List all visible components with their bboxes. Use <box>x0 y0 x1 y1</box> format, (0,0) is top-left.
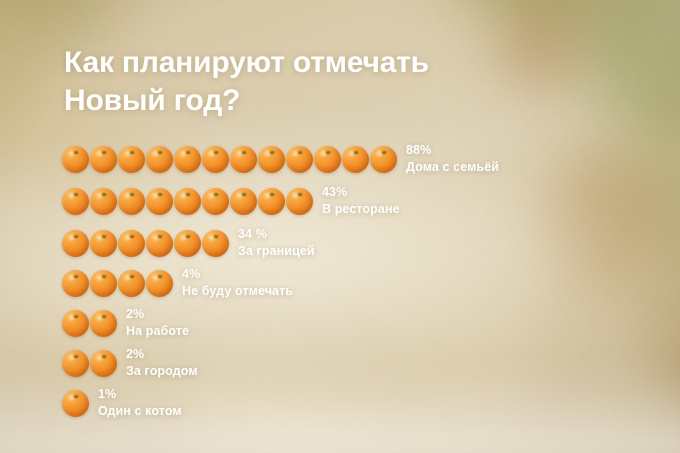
row-category: На работе <box>126 323 189 340</box>
icon-group <box>62 270 174 300</box>
row-category: В ресторане <box>322 201 400 218</box>
row-percent: 88% <box>406 142 499 159</box>
icon-group <box>62 188 314 218</box>
row-percent: 4% <box>182 266 293 283</box>
tangerine-icon <box>342 146 369 173</box>
tangerine-icon <box>146 146 173 173</box>
row-label-group: 1%Один с котом <box>98 386 182 419</box>
tangerine-icon <box>62 390 89 417</box>
tangerine-icon <box>202 146 229 173</box>
row-label-group: 43%В ресторане <box>322 184 400 217</box>
row-category: Один с котом <box>98 403 182 420</box>
tangerine-icon <box>286 188 313 215</box>
tangerine-icon <box>118 146 145 173</box>
tangerine-icon <box>62 310 89 337</box>
infographic-canvas: Как планируют отмечать Новый год? 88%Дом… <box>0 0 680 453</box>
tangerine-icon <box>146 270 173 297</box>
tangerine-icon <box>90 270 117 297</box>
row-category: За границей <box>238 243 315 260</box>
icon-group <box>62 350 118 380</box>
tangerine-icon <box>202 230 229 257</box>
tangerine-icon <box>62 146 89 173</box>
row-percent: 34 % <box>238 226 315 243</box>
tangerine-icon <box>90 310 117 337</box>
tangerine-icon <box>62 270 89 297</box>
tangerine-icon <box>62 230 89 257</box>
row-label-group: 88%Дома с семьёй <box>406 142 499 175</box>
tangerine-icon <box>174 230 201 257</box>
row-percent: 2% <box>126 306 189 323</box>
row-label-group: 4%Не буду отмечать <box>182 266 293 299</box>
tangerine-icon <box>230 188 257 215</box>
tangerine-icon <box>258 146 285 173</box>
row-percent: 1% <box>98 386 182 403</box>
tangerine-icon <box>118 270 145 297</box>
icon-group <box>62 146 398 176</box>
tangerine-icon <box>90 230 117 257</box>
tangerine-icon <box>286 146 313 173</box>
tangerine-icon <box>118 188 145 215</box>
icon-group <box>62 390 90 420</box>
row-percent: 43% <box>322 184 400 201</box>
tangerine-icon <box>90 146 117 173</box>
tangerine-icon <box>118 230 145 257</box>
tangerine-icon <box>370 146 397 173</box>
row-label-group: 2%На работе <box>126 306 189 339</box>
row-label-group: 2%За городом <box>126 346 198 379</box>
tangerine-icon <box>174 146 201 173</box>
tangerine-icon <box>174 188 201 215</box>
row-category: Не буду отмечать <box>182 283 293 300</box>
row-category: За городом <box>126 363 198 380</box>
tangerine-icon <box>62 188 89 215</box>
tangerine-icon <box>230 146 257 173</box>
tangerine-icon <box>146 230 173 257</box>
tangerine-icon <box>90 188 117 215</box>
page-title: Как планируют отмечать Новый год? <box>64 44 534 120</box>
icon-group <box>62 310 118 340</box>
tangerine-icon <box>90 350 117 377</box>
row-label-group: 34 %За границей <box>238 226 315 259</box>
tangerine-icon <box>202 188 229 215</box>
tangerine-icon <box>146 188 173 215</box>
row-percent: 2% <box>126 346 198 363</box>
tangerine-icon <box>314 146 341 173</box>
row-category: Дома с семьёй <box>406 159 499 176</box>
tangerine-icon <box>258 188 285 215</box>
tangerine-icon <box>62 350 89 377</box>
icon-group <box>62 230 230 260</box>
